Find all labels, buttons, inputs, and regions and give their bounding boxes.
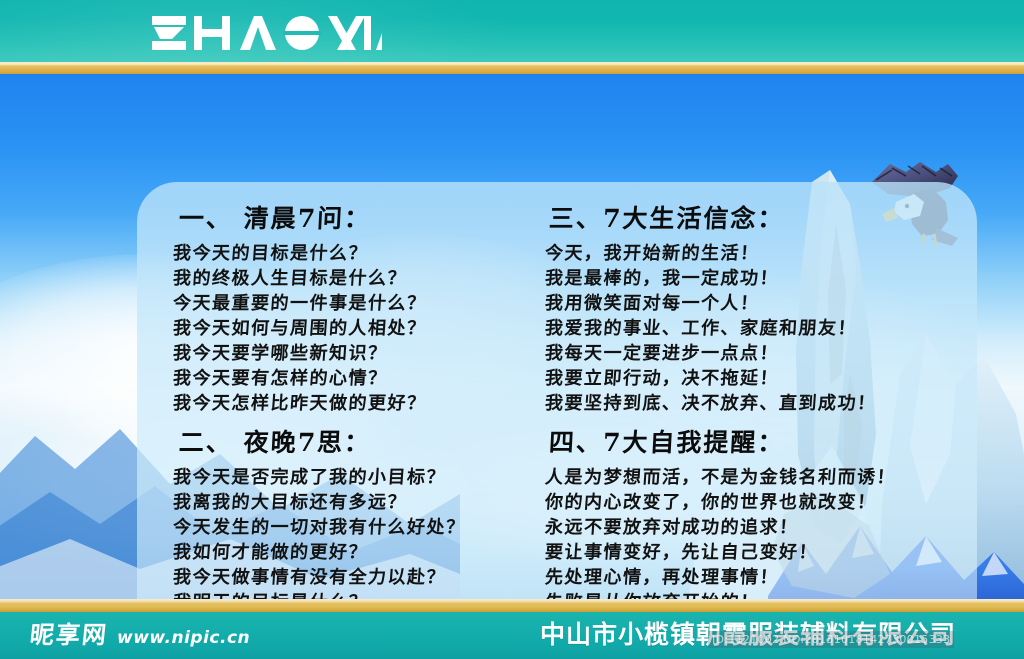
content-panel: 一、 清晨7问： 我今天的目标是什么？ 我的终极人生目标是什么？ 今天最重要的一… bbox=[137, 182, 977, 612]
section-line: 我要立即行动，决不拖延！ bbox=[544, 366, 977, 391]
section-line: 人是为梦想而活，不是为金钱名利而诱！ bbox=[544, 465, 977, 490]
section-title-3: 三、7大生活信念： bbox=[544, 206, 977, 231]
watermark-id-text: ID:1121002 NO:20131018142730015333 bbox=[708, 631, 954, 648]
section-line: 先处理心情，再处理事情！ bbox=[544, 565, 977, 590]
gold-divider-top bbox=[0, 62, 1024, 74]
section-title-1: 一、 清晨7问： bbox=[164, 206, 537, 231]
section-lines-4: 人是为梦想而活，不是为金钱名利而诱！ 你的内心改变了，你的世界也就改变！ 永远不… bbox=[545, 465, 977, 612]
gold-divider-bottom bbox=[0, 599, 1024, 612]
section-line: 我如何才能做的更好？ bbox=[172, 540, 538, 565]
section-line: 我的终极人生目标是什么？ bbox=[172, 266, 538, 291]
section-line: 今天，我开始新的生活！ bbox=[544, 241, 977, 266]
section-line: 我今天的目标是什么？ bbox=[172, 241, 538, 266]
header-bar: ZHAOXIA bbox=[0, 0, 1024, 62]
section-line: 我今天做事情有没有全力以赴？ bbox=[172, 565, 538, 590]
section-line: 我今天是否完成了我的小目标？ bbox=[172, 465, 538, 490]
section-line: 今天发生的一切对我有什么好处？ bbox=[172, 515, 538, 540]
nipic-url-text[interactable]: www.nipic.cn bbox=[117, 628, 250, 648]
section-title-2: 二、 夜晚7思： bbox=[164, 430, 537, 455]
panel-columns: 一、 清晨7问： 我今天的目标是什么？ 我的终极人生目标是什么？ 今天最重要的一… bbox=[137, 182, 977, 612]
section-line: 我每天一定要进步一点点！ bbox=[544, 341, 977, 366]
section-line: 我今天怎样比昨天做的更好？ bbox=[172, 391, 538, 416]
section-lines-2: 我今天是否完成了我的小目标？ 我离我的大目标还有多远？ 今天发生的一切对我有什么… bbox=[165, 465, 537, 612]
brand-logo: ZHAOXIA bbox=[150, 14, 382, 52]
column-right: 三、7大生活信念： 今天，我开始新的生活！ 我是最棒的，我一定成功！ 我用微笑面… bbox=[537, 182, 977, 612]
section-line: 我爱我的事业、工作、家庭和朋友！ bbox=[544, 316, 977, 341]
section-line: 我今天要学哪些新知识？ bbox=[172, 341, 538, 366]
section-line: 我用微笑面对每一个人！ bbox=[544, 291, 977, 316]
section-line: 永远不要放弃对成功的追求！ bbox=[544, 515, 977, 540]
section-line: 我是最棒的，我一定成功！ bbox=[544, 266, 977, 291]
section-line: 我今天如何与周围的人相处？ bbox=[172, 316, 538, 341]
zhaoxia-logo-icon bbox=[150, 13, 382, 53]
section-line: 我今天要有怎样的心情？ bbox=[172, 366, 538, 391]
section-line: 我要坚持到底、决不放弃、直到成功！ bbox=[544, 391, 977, 416]
section-line: 你的内心改变了，你的世界也就改变！ bbox=[544, 490, 977, 515]
poster-root: ZHAOXIA bbox=[0, 0, 1024, 659]
section-line: 今天最重要的一件事是什么？ bbox=[172, 291, 538, 316]
section-lines-1: 我今天的目标是什么？ 我的终极人生目标是什么？ 今天最重要的一件事是什么？ 我今… bbox=[165, 241, 537, 416]
section-line: 要让事情变好，先让自己变好！ bbox=[544, 540, 977, 565]
nipic-watermark: 昵享网 www.nipic.cn bbox=[30, 621, 250, 649]
background-scene: 一、 清晨7问： 我今天的目标是什么？ 我的终极人生目标是什么？ 今天最重要的一… bbox=[0, 74, 1024, 612]
section-title-4: 四、7大自我提醒： bbox=[544, 430, 977, 455]
column-left: 一、 清晨7问： 我今天的目标是什么？ 我的终极人生目标是什么？ 今天最重要的一… bbox=[137, 182, 537, 612]
nipic-brand-text: 昵享网 bbox=[29, 621, 110, 649]
section-lines-3: 今天，我开始新的生活！ 我是最棒的，我一定成功！ 我用微笑面对每一个人！ 我爱我… bbox=[545, 241, 977, 416]
section-line: 我离我的大目标还有多远？ bbox=[172, 490, 538, 515]
